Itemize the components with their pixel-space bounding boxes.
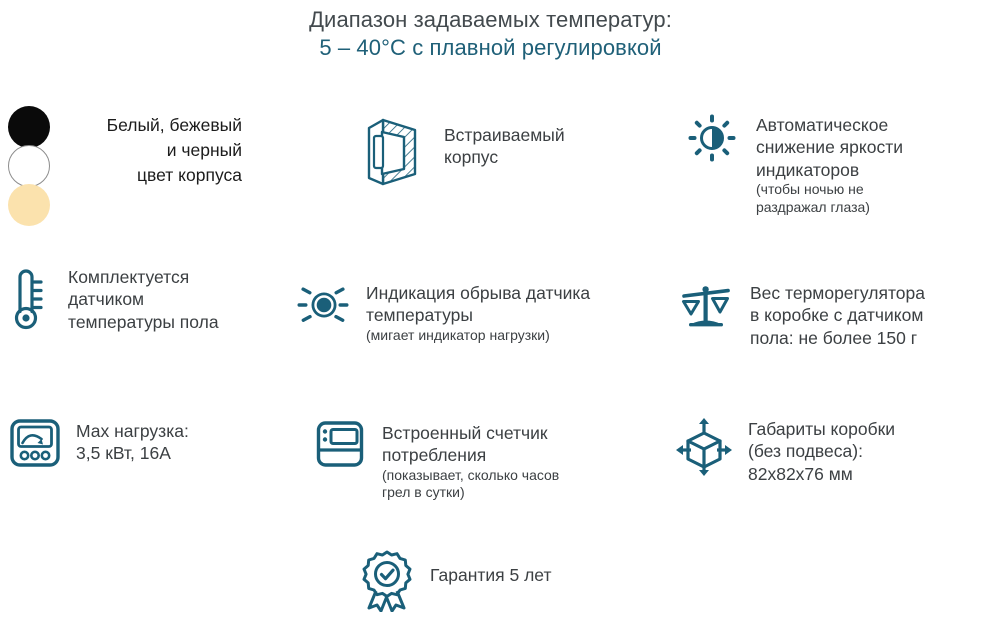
- color-swatches-icon: [8, 106, 52, 223]
- balance-scale-icon: [680, 282, 732, 332]
- feature-consumption-counter-label: Встроенный счетчик потребления (показыва…: [382, 420, 559, 502]
- label-subline: раздражал глаза): [756, 199, 903, 217]
- label-subline: (чтобы ночью не: [756, 181, 903, 199]
- title-line-2: 5 – 40°C с плавной регулировкой: [0, 34, 981, 62]
- feature-box-dimensions: Габариты коробки (без подвеса): 82x82x76…: [676, 418, 895, 485]
- label-line: цвет корпуса: [62, 163, 242, 188]
- label-subline: грел в сутки): [382, 484, 559, 502]
- feature-flush-mount-label: Встраиваемый корпус: [444, 112, 565, 169]
- feature-sensor-break-label: Индикация обрыва датчика температуры (ми…: [366, 282, 590, 344]
- feature-floor-sensor: Комплектуется датчиком температуры пола: [8, 266, 219, 333]
- label-line: корпус: [444, 146, 565, 168]
- label-subline: (мигает индикатор нагрузки): [366, 327, 590, 345]
- title-line-1: Диапазон задаваемых температур:: [0, 6, 981, 34]
- power-meter-gauge-icon: [10, 418, 60, 468]
- built-in-housing-icon: [360, 112, 426, 192]
- label-line: Гарантия 5 лет: [430, 564, 551, 586]
- feature-case-colors: Белый, бежевый и черный цвет корпуса: [8, 106, 242, 223]
- feature-auto-dim: Автоматическое снижение яркости индикато…: [686, 112, 903, 216]
- swatch-white: [8, 145, 50, 187]
- swatch-black: [8, 106, 50, 148]
- label-line: индикаторов: [756, 159, 903, 181]
- label-line: Мах нагрузка:: [76, 420, 189, 442]
- feature-warranty-label: Гарантия 5 лет: [430, 550, 551, 586]
- page-title: Диапазон задаваемых температур: 5 – 40°C…: [0, 6, 981, 62]
- label-line: Встроенный счетчик: [382, 422, 559, 444]
- label-line: Автоматическое: [756, 114, 903, 136]
- blinking-indicator-icon: [296, 282, 350, 328]
- feature-auto-dim-label: Автоматическое снижение яркости индикато…: [756, 112, 903, 216]
- label-line: 82x82x76 мм: [748, 463, 895, 485]
- label-line: Вес терморегулятора: [750, 282, 925, 304]
- label-line: Комплектуется: [68, 266, 219, 288]
- feature-sensor-break: Индикация обрыва датчика температуры (ми…: [296, 282, 590, 344]
- feature-warranty: Гарантия 5 лет: [360, 550, 551, 612]
- label-line: потребления: [382, 444, 559, 466]
- feature-case-colors-label: Белый, бежевый и черный цвет корпуса: [62, 106, 242, 188]
- feature-floor-sensor-label: Комплектуется датчиком температуры пола: [68, 266, 219, 333]
- label-line: и черный: [62, 138, 242, 163]
- thermometer-icon: [8, 266, 50, 332]
- feature-weight: Вес терморегулятора в коробке с датчиком…: [680, 282, 925, 349]
- label-line: Индикация обрыва датчика: [366, 282, 590, 304]
- feature-flush-mount: Встраиваемый корпус: [360, 112, 565, 192]
- label-line: (без подвеса):: [748, 440, 895, 462]
- energy-meter-icon: [316, 420, 364, 468]
- label-line: 3,5 кВт, 16А: [76, 442, 189, 464]
- feature-weight-label: Вес терморегулятора в коробке с датчиком…: [750, 282, 925, 349]
- box-dimensions-icon: [676, 418, 732, 476]
- warranty-badge-icon: [360, 550, 414, 612]
- label-subline: (показывает, сколько часов: [382, 467, 559, 485]
- label-line: датчиком: [68, 288, 219, 310]
- label-line: снижение яркости: [756, 136, 903, 158]
- swatch-beige: [8, 184, 50, 226]
- feature-max-load: Мах нагрузка: 3,5 кВт, 16А: [10, 418, 189, 468]
- label-line: температуры: [366, 304, 590, 326]
- label-line: Белый, бежевый: [62, 113, 242, 138]
- label-line: Встраиваемый: [444, 124, 565, 146]
- label-line: температуры пола: [68, 311, 219, 333]
- feature-max-load-label: Мах нагрузка: 3,5 кВт, 16А: [76, 418, 189, 465]
- label-line: пола: не более 150 г: [750, 327, 925, 349]
- infographic-page: Диапазон задаваемых температур: 5 – 40°C…: [0, 0, 981, 629]
- brightness-dim-icon: [686, 112, 738, 164]
- label-line: Габариты коробки: [748, 418, 895, 440]
- feature-consumption-counter: Встроенный счетчик потребления (показыва…: [316, 420, 559, 502]
- label-line: в коробке с датчиком: [750, 304, 925, 326]
- feature-box-dimensions-label: Габариты коробки (без подвеса): 82x82x76…: [748, 418, 895, 485]
